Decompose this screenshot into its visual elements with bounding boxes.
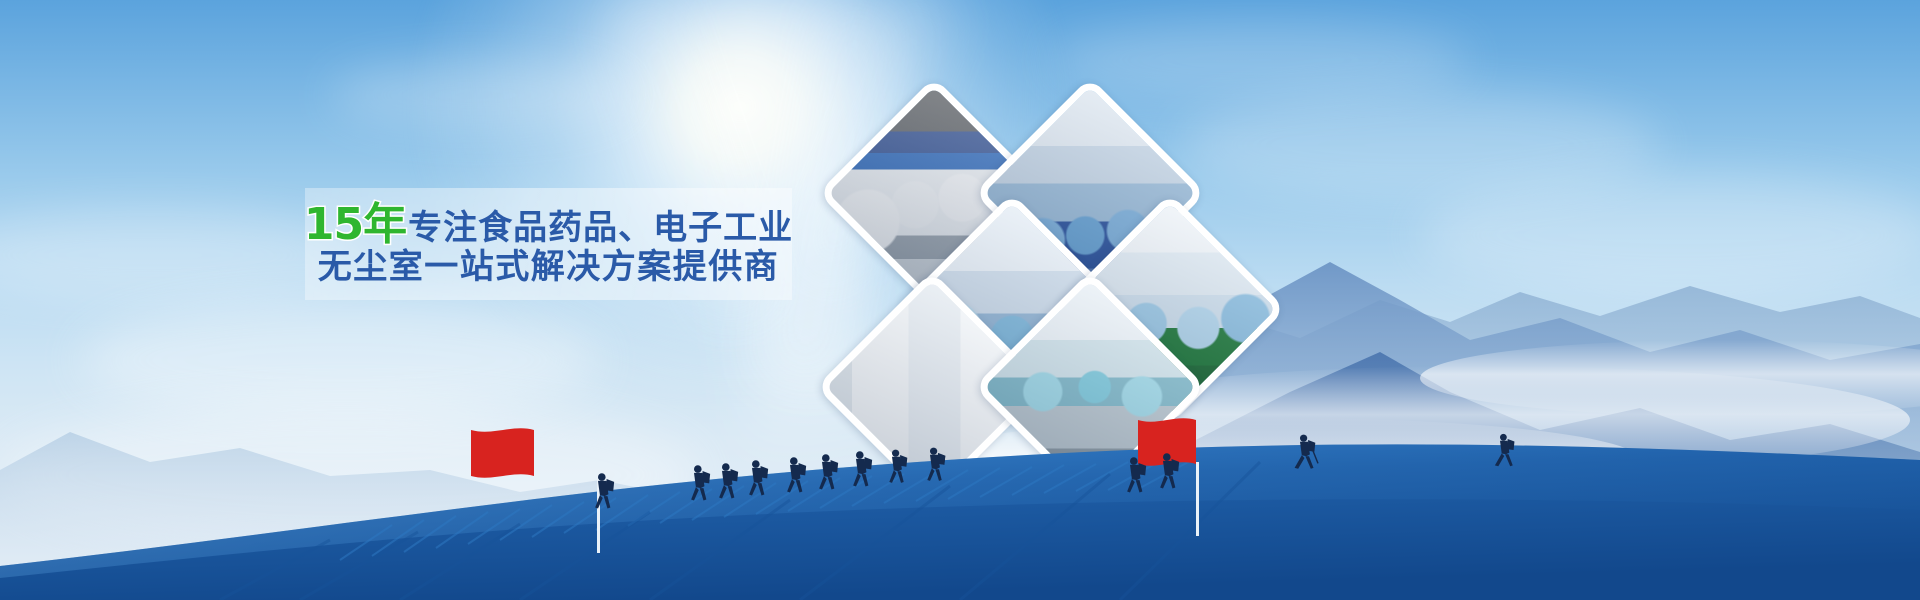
headline-line-2: 无尘室一站式解决方案提供商	[318, 250, 780, 285]
headline-block: 15年 专注食品药品、电子工业 无尘室一站式解决方案提供商	[305, 188, 792, 300]
hero-banner: 15年 专注食品药品、电子工业 无尘室一站式解决方案提供商	[0, 0, 1920, 600]
foreground-ridge	[0, 370, 1920, 600]
years-badge: 15年	[304, 203, 406, 248]
headline-line-1: 15年 专注食品药品、电子工业	[304, 203, 793, 248]
headline-line-1-text: 专注食品药品、电子工业	[408, 211, 793, 246]
